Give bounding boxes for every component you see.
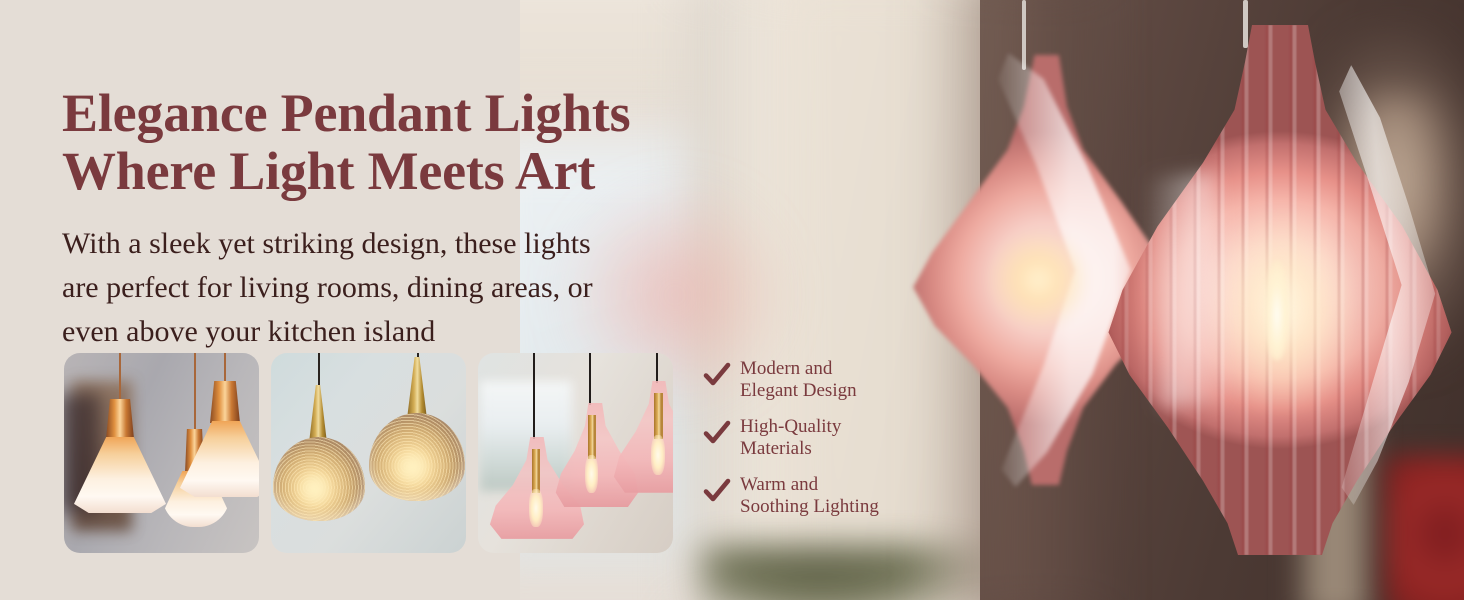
subcopy-line-1: With a sleek yet striking design, these … bbox=[62, 222, 782, 266]
list-item: Modern and Elegant Design bbox=[702, 358, 952, 402]
thumb3-stem-c bbox=[654, 393, 663, 439]
product-hero-banner: Elegance Pendant Lights Where Light Meet… bbox=[0, 0, 1464, 600]
check-icon bbox=[702, 418, 732, 448]
product-thumbnail-gallery bbox=[64, 353, 674, 553]
headline-line-1: Elegance Pendant Lights bbox=[62, 84, 822, 142]
thumb1-cap-b bbox=[210, 381, 240, 423]
thumb2-cord-a bbox=[318, 353, 320, 387]
feature-label: Warm and Soothing Lighting bbox=[740, 474, 879, 518]
feature-label: Modern and Elegant Design bbox=[740, 358, 857, 402]
thumb1-cord-c bbox=[194, 353, 196, 431]
thumb1-cap-a bbox=[106, 399, 134, 439]
thumb3-stem-b bbox=[588, 415, 596, 459]
thumb3-cord-a bbox=[533, 353, 535, 439]
page-title: Elegance Pendant Lights Where Light Meet… bbox=[62, 84, 822, 200]
thumbnail-copper-cone-pendant-lights[interactable] bbox=[64, 353, 259, 553]
thumbnail-image-2 bbox=[271, 353, 466, 553]
thumb1-cord-a bbox=[119, 353, 121, 401]
feature-label: High-Quality Materials bbox=[740, 416, 841, 460]
thumb3-cord-b bbox=[589, 353, 591, 405]
thumb3-stem-a bbox=[532, 449, 540, 493]
thumbnail-pink-glass-pendant-lights[interactable] bbox=[478, 353, 673, 553]
thumb3-cord-c bbox=[656, 353, 658, 383]
headline-line-2: Where Light Meets Art bbox=[62, 142, 822, 200]
thumb1-cord-b bbox=[224, 353, 226, 383]
subcopy-line-3: even above your kitchen island bbox=[62, 310, 782, 354]
lamp-bulb-glow-back bbox=[983, 230, 1093, 330]
thumbnail-image-3 bbox=[478, 353, 673, 553]
check-icon bbox=[702, 360, 732, 390]
feature-list: Modern and Elegant Design High-Quality M… bbox=[702, 358, 952, 518]
thumbnail-gold-teardrop-pendant-lights[interactable] bbox=[271, 353, 466, 553]
subcopy-line-2: are perfect for living rooms, dining are… bbox=[62, 266, 782, 310]
list-item: High-Quality Materials bbox=[702, 416, 952, 460]
pendant-lamp-primary bbox=[1105, 25, 1455, 555]
subheading-text: With a sleek yet striking design, these … bbox=[62, 222, 782, 354]
thumb3-bulb-c bbox=[651, 435, 665, 475]
list-item: Warm and Soothing Lighting bbox=[702, 474, 952, 518]
thumb3-bulb-b bbox=[585, 455, 598, 493]
thumb3-bulb-a bbox=[529, 489, 543, 527]
thumbnail-image-1 bbox=[64, 353, 259, 553]
lamp-bulb-front bbox=[1265, 260, 1289, 360]
check-icon bbox=[702, 476, 732, 506]
